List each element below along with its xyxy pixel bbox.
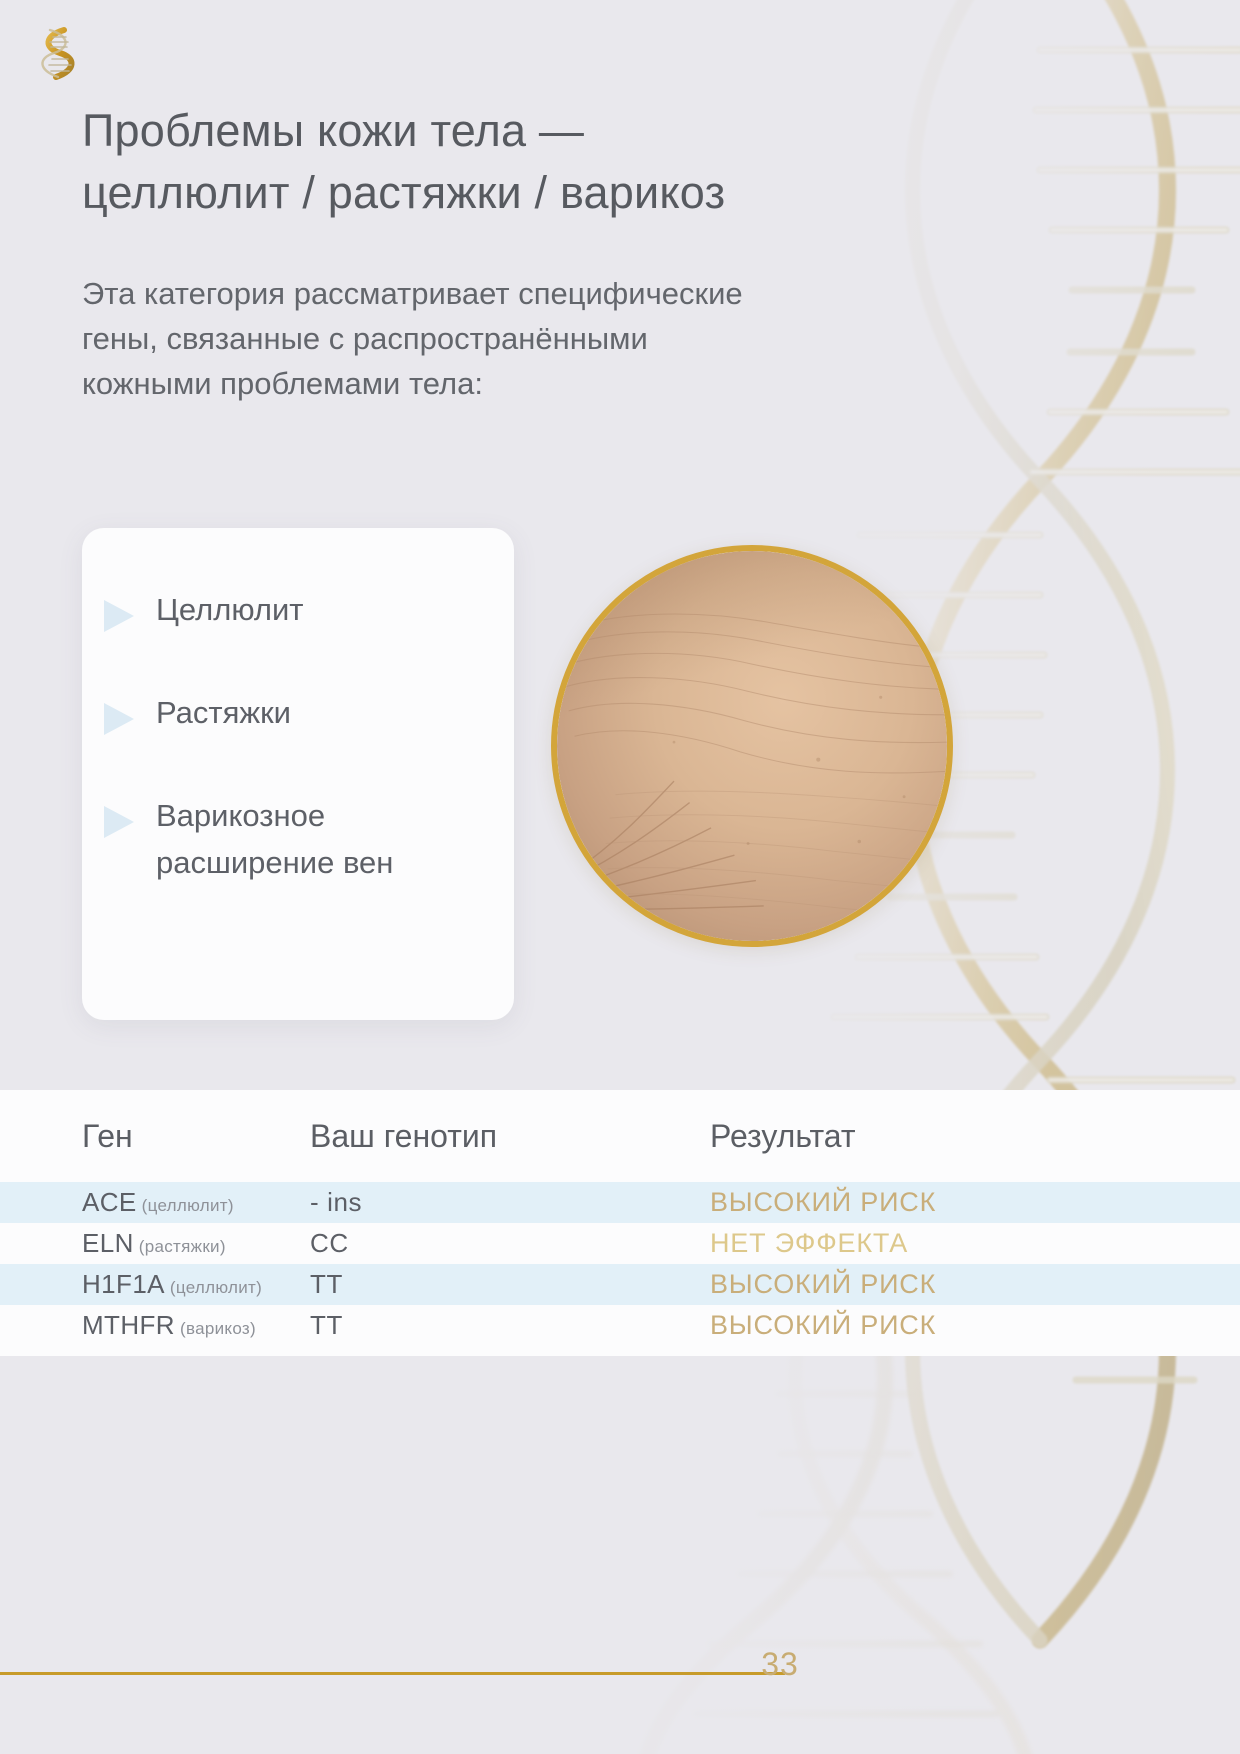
column-header-result: Результат <box>710 1118 1158 1155</box>
cell-genotype: TT <box>310 1269 710 1300</box>
gene-name: H1F1A <box>82 1269 165 1299</box>
table-body: ACE(целлюлит) - ins ВЫСОКИЙ РИСК ELN(рас… <box>0 1182 1240 1346</box>
table-row: MTHFR(варикоз) TT ВЫСОКИЙ РИСК <box>0 1305 1240 1346</box>
cell-result: ВЫСОКИЙ РИСК <box>710 1310 1158 1341</box>
triangle-right-icon <box>104 806 134 838</box>
cell-result: ВЫСОКИЙ РИСК <box>710 1187 1158 1218</box>
page-number: 33 <box>735 1646 825 1683</box>
cell-gene: ACE(целлюлит) <box>0 1187 310 1218</box>
gene-tag: (целлюлит) <box>142 1196 234 1215</box>
list-item-label: Варикозное расширение вен <box>156 792 456 886</box>
table-row: H1F1A(целлюлит) TT ВЫСОКИЙ РИСК <box>0 1264 1240 1305</box>
gene-name: MTHFR <box>82 1310 175 1340</box>
list-item: Целлюлит <box>104 586 496 633</box>
list-item: Варикозное расширение вен <box>104 792 496 886</box>
cell-genotype: TT <box>310 1310 710 1341</box>
conditions-card: Целлюлит Растяжки Варикозное расширение … <box>82 528 514 1020</box>
conditions-list: Целлюлит Растяжки Варикозное расширение … <box>104 586 496 886</box>
triangle-right-icon <box>104 703 134 735</box>
cell-genotype: - ins <box>310 1187 710 1218</box>
genotype-table: Ген Ваш генотип Результат ACE(целлюлит) … <box>0 1090 1240 1356</box>
triangle-right-icon <box>104 600 134 632</box>
page-subtitle: Эта категория рассматривает специфически… <box>82 272 782 407</box>
table-row: ELN(растяжки) CC НЕТ ЭФФЕКТА <box>0 1223 1240 1264</box>
skin-texture-photo-inner <box>557 551 947 941</box>
list-item: Растяжки <box>104 689 496 736</box>
cell-genotype: CC <box>310 1228 710 1259</box>
cell-gene: ELN(растяжки) <box>0 1228 310 1259</box>
page-title-line2: целлюлит / растяжки / варикоз <box>82 167 725 218</box>
gene-tag: (целлюлит) <box>170 1278 262 1297</box>
page-title-line1: Проблемы кожи тела — <box>82 105 584 156</box>
list-item-label: Целлюлит <box>156 586 304 633</box>
skin-texture-photo <box>551 545 953 947</box>
gene-tag: (растяжки) <box>139 1237 226 1256</box>
list-item-label: Растяжки <box>156 689 291 736</box>
dna-helix-icon <box>30 22 84 84</box>
cell-result: НЕТ ЭФФЕКТА <box>710 1228 1158 1259</box>
cell-gene: H1F1A(целлюлит) <box>0 1269 310 1300</box>
table-row: ACE(целлюлит) - ins ВЫСОКИЙ РИСК <box>0 1182 1240 1223</box>
gene-name: ELN <box>82 1228 134 1258</box>
footer-divider <box>0 1672 785 1675</box>
column-header-genotype: Ваш генотип <box>310 1118 710 1155</box>
page-title: Проблемы кожи тела — целлюлит / растяжки… <box>82 100 962 224</box>
column-header-gene: Ген <box>0 1118 310 1155</box>
gene-tag: (варикоз) <box>180 1319 256 1338</box>
cell-result: ВЫСОКИЙ РИСК <box>710 1269 1158 1300</box>
table-header-row: Ген Ваш генотип Результат <box>0 1090 1240 1182</box>
cell-gene: MTHFR(варикоз) <box>0 1310 310 1341</box>
gene-name: ACE <box>82 1187 137 1217</box>
slide-page: Проблемы кожи тела — целлюлит / растяжки… <box>0 0 1240 1754</box>
